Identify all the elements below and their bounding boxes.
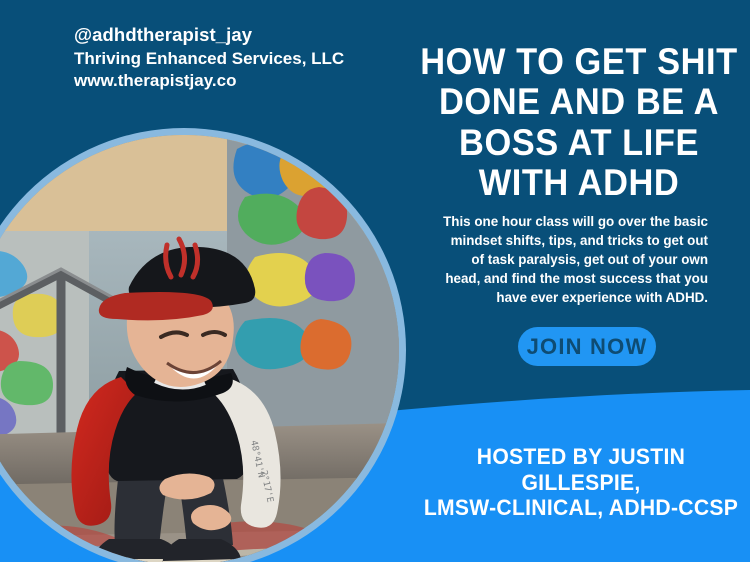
portrait-photo-ring: 48°41'N 2°17'E [0,128,406,562]
headline-line-1: HOW TO GET SHIT [420,42,738,82]
portrait-illustration: 48°41'N 2°17'E [0,135,399,562]
website-url[interactable]: www.therapistjay.co [74,70,344,92]
host-credit: HOSTED BY JUSTIN GILLESPIE, LMSW-CLINICA… [423,444,740,521]
host-credit-line-2: LMSW-CLINICAL, ADHD-CCSP [423,495,740,521]
headline-line-4: WITH ADHD [420,163,738,203]
company-name: Thriving Enhanced Services, LLC [74,48,344,70]
content-column: HOW TO GET SHIT DONE AND BE A BOSS AT LI… [408,0,750,562]
brand-block: @adhdtherapist_jay Thriving Enhanced Ser… [74,22,344,92]
class-description: This one hour class will go over the bas… [436,212,708,307]
page-title: HOW TO GET SHIT DONE AND BE A BOSS AT LI… [420,42,738,203]
headline-line-2: DONE AND BE A [420,82,738,122]
social-handle: @adhdtherapist_jay [74,22,344,48]
portrait-photo: 48°41'N 2°17'E [0,135,399,562]
headline-line-3: BOSS AT LIFE [420,123,738,163]
join-now-button[interactable]: JOIN NOW [518,327,656,366]
promo-poster: 48°41'N 2°17'E [0,0,750,562]
host-credit-line-1: HOSTED BY JUSTIN GILLESPIE, [423,444,740,495]
